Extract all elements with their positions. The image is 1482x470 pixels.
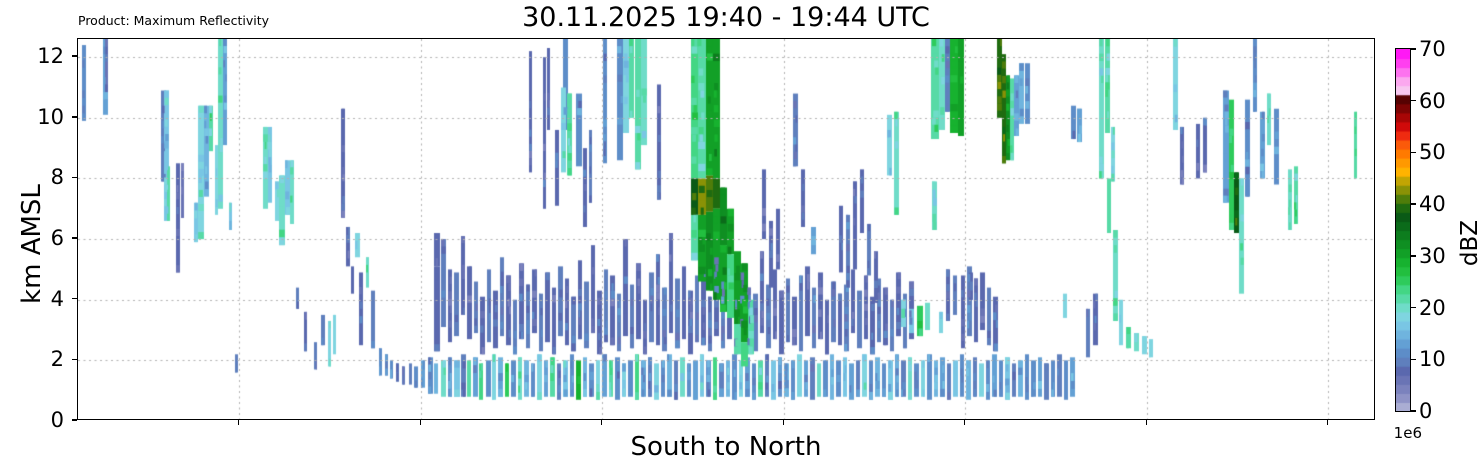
- x-tick-mark: [964, 420, 965, 425]
- y-axis-label: km AMSL: [17, 134, 47, 354]
- colorbar-tick-label: 60: [1419, 89, 1446, 113]
- colorbar-tick-label: 30: [1419, 244, 1446, 268]
- product-annotation: Product: Maximum Reflectivity: [78, 13, 269, 28]
- x-axis-offset-text: 1e6: [1394, 424, 1422, 442]
- colorbar-tick-label: 70: [1419, 37, 1446, 61]
- colorbar-tick-mark: [1411, 152, 1416, 153]
- x-tick-mark: [601, 420, 602, 425]
- radar-cross-section-figure: 30.11.2025 19:40 - 19:44 UTC Product: Ma…: [0, 0, 1482, 470]
- colorbar-tick-mark: [1411, 100, 1416, 101]
- colorbar-canvas: [1396, 49, 1410, 411]
- colorbar-tick-label: 0: [1419, 399, 1432, 423]
- colorbar-tick-mark: [1411, 255, 1416, 256]
- x-tick-mark: [1327, 420, 1328, 425]
- x-tick-mark: [420, 420, 421, 425]
- colorbar[interactable]: [1395, 48, 1411, 412]
- colorbar-tick-label: 40: [1419, 192, 1446, 216]
- radar-reflectivity-canvas: [78, 39, 1375, 420]
- x-tick-mark: [1146, 420, 1147, 425]
- colorbar-tick-label: 20: [1419, 296, 1446, 320]
- colorbar-label: dBZ: [1457, 173, 1482, 313]
- colorbar-tick-mark: [1411, 307, 1416, 308]
- y-tick-label: 12: [24, 44, 64, 68]
- page-title: 30.11.2025 19:40 - 19:44 UTC: [77, 2, 1375, 33]
- x-axis-label: South to North: [77, 432, 1375, 462]
- plot-area[interactable]: [77, 38, 1375, 420]
- colorbar-tick-label: 50: [1419, 140, 1446, 164]
- colorbar-tick-mark: [1411, 48, 1416, 49]
- colorbar-tick-label: 10: [1419, 347, 1446, 371]
- y-tick-label: 10: [24, 105, 64, 129]
- colorbar-tick-mark: [1411, 203, 1416, 204]
- y-tick-label: 0: [24, 408, 64, 432]
- colorbar-tick-mark: [1411, 359, 1416, 360]
- x-tick-mark: [238, 420, 239, 425]
- colorbar-tick-mark: [1411, 410, 1416, 411]
- x-tick-mark: [783, 420, 784, 425]
